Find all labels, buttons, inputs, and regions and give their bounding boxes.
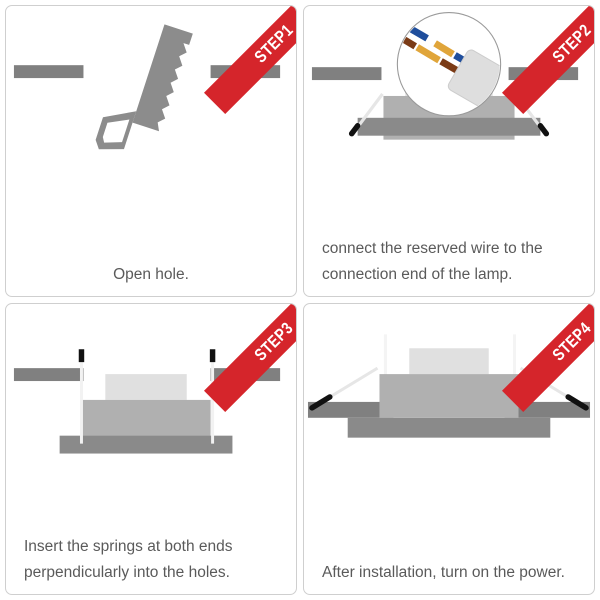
- ceiling-bar-right: [509, 67, 579, 80]
- ceiling-recess: [348, 418, 551, 438]
- step-2-caption: connect the reserved wire to the connect…: [304, 236, 594, 288]
- lamp-icon: [379, 348, 518, 418]
- step-4-artwork: [304, 304, 594, 472]
- step-3-artwork: [6, 304, 296, 472]
- ceiling-bar-left: [14, 65, 84, 78]
- step-panel-4: STEP4 After installation, turn on the po…: [303, 303, 595, 595]
- step-3-caption: Insert the springs at both ends perpendi…: [6, 534, 296, 586]
- steps-grid: STEP1 Open hole.: [0, 0, 600, 600]
- saw-icon: [93, 15, 193, 166]
- step-2-artwork: [304, 6, 594, 174]
- ceiling-bar-right: [211, 65, 281, 78]
- step-4-caption: After installation, turn on the power.: [304, 560, 594, 586]
- ceiling-bar-left: [14, 368, 84, 381]
- step-panel-3: STEP3 Insert the springs at both ends pe…: [5, 303, 297, 595]
- step-panel-2: STEP2 connect the reserved wire to the c…: [303, 5, 595, 297]
- ceiling-bar-left: [312, 67, 382, 80]
- step-1-artwork: [6, 6, 296, 174]
- step-panel-1: STEP1 Open hole.: [5, 5, 297, 297]
- lamp-icon: [60, 374, 233, 453]
- ceiling-bar-right: [211, 368, 281, 381]
- step-1-caption: Open hole.: [6, 262, 296, 288]
